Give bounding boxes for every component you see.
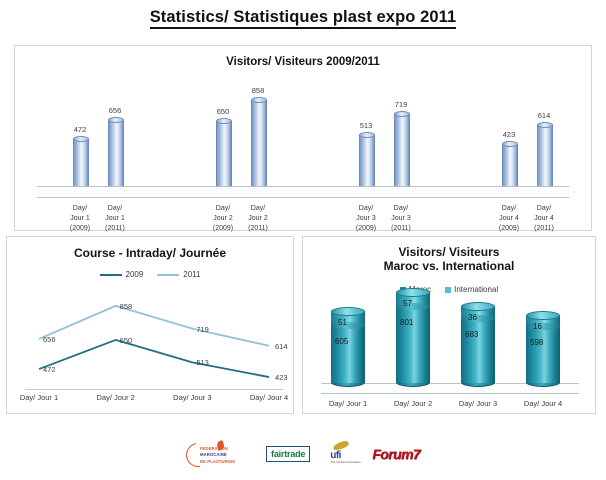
- bar-value-label: 650: [217, 107, 230, 116]
- segment-maroc: [526, 326, 560, 383]
- segment-divider: [461, 315, 495, 322]
- line-point-label: 656: [43, 335, 56, 344]
- cylinder-top-cap: [526, 311, 560, 320]
- column-bar: [73, 139, 89, 186]
- segment-maroc: [461, 318, 495, 383]
- segment-value-maroc: 605: [335, 337, 348, 346]
- line-point-label: 858: [120, 302, 133, 311]
- segment-divider: [331, 322, 365, 329]
- sponsor-logo-strip: FEDERATION MAROCAINE DE PLASTURGIE fairt…: [0, 432, 606, 476]
- bar-value-label: 656: [109, 106, 122, 115]
- chart-plot-area-course-intraday: 472650513423656858719614Day/ Jour 1Day/ …: [7, 237, 293, 413]
- line-series-2009: [39, 340, 269, 377]
- cylinder-category-label: Day/ Jour 2: [394, 399, 432, 410]
- cylinder-top-cap: [331, 307, 365, 316]
- bar-category-label: Day/Jour 2(2009): [213, 204, 233, 234]
- segment-maroc: [331, 325, 365, 383]
- segment-value-maroc: 598: [530, 338, 543, 347]
- segment-divider: [396, 303, 430, 310]
- forum7-label: Forum7: [372, 446, 420, 462]
- bar-category-label: Day/Jour 4(2011): [534, 204, 554, 234]
- logo-forum7: Forum7: [372, 446, 420, 462]
- chart-plot-area-maroc-vs-international: 51605Day/ Jour 157801Day/ Jour 236683Day…: [303, 237, 595, 413]
- logo-fairtrade: fairtrade: [266, 446, 310, 462]
- bar-category-label: Day/Jour 2(2011): [248, 204, 268, 234]
- bar-value-label: 513: [360, 121, 373, 130]
- fairtrade-label: fairtrade: [266, 446, 310, 462]
- line-category-label: Day/ Jour 3: [173, 393, 211, 404]
- fmp-line3: DE PLASTURGIE: [200, 459, 235, 465]
- line-point-label: 513: [196, 358, 209, 367]
- segment-value-maroc: 801: [400, 318, 413, 327]
- page-title: Statistics/ Statistiques plast expo 2011: [0, 8, 606, 27]
- chart-floor-plane: [37, 186, 569, 198]
- bar-value-label: 423: [503, 130, 516, 139]
- line-point-label: 719: [196, 325, 209, 334]
- segment-value-international: 36: [468, 313, 477, 322]
- segment-value-international: 16: [533, 322, 542, 331]
- bar-category-label: Day/Jour 3(2009): [356, 204, 376, 234]
- chart-plot-area-visitors: 472Day/Jour 1(2009)656Day/Jour 1(2011)65…: [15, 46, 591, 230]
- stacked-cylinder: [331, 311, 365, 383]
- bar-category-label: Day/Jour 4(2009): [499, 204, 519, 234]
- chart-panel-course-intraday: Course - Intraday/ Journée 20092011 4726…: [6, 236, 294, 414]
- logo-federation-marocaine-de-plasturgie: FEDERATION MAROCAINE DE PLASTURGIE: [186, 441, 248, 467]
- line-point-label: 472: [43, 365, 56, 374]
- bar-value-label: 472: [74, 125, 87, 134]
- chart-panel-visitors-2009-2011: Visitors/ Visiteurs 2009/2011 472Day/Jou…: [14, 45, 592, 231]
- line-category-label: Day/ Jour 2: [96, 393, 134, 404]
- cylinder-category-label: Day/ Jour 1: [329, 399, 367, 410]
- cylinder-top-cap: [461, 302, 495, 311]
- segment-value-international: 51: [338, 318, 347, 327]
- page-title-text: Statistics/ Statistiques plast expo 2011: [150, 8, 457, 29]
- bar-category-label: Day/Jour 3(2011): [391, 204, 411, 234]
- cylinder-category-label: Day/ Jour 3: [459, 399, 497, 410]
- column-bar: [502, 144, 518, 186]
- segment-divider: [526, 323, 560, 330]
- column-bar: [108, 120, 124, 186]
- line-category-label: Day/ Jour 4: [250, 393, 288, 404]
- segment-value-maroc: 683: [465, 330, 478, 339]
- bar-category-label: Day/Jour 1(2009): [70, 204, 90, 234]
- column-bar: [216, 121, 232, 186]
- column-bar: [359, 135, 375, 186]
- bar-value-label: 614: [538, 111, 551, 120]
- bar-value-label: 858: [252, 86, 265, 95]
- cylinder-category-label: Day/ Jour 4: [524, 399, 562, 410]
- column-bar: [394, 114, 410, 186]
- ufi-sublabel: The Global Association: [330, 460, 361, 464]
- line-point-label: 614: [275, 342, 288, 351]
- x-axis-line: [25, 389, 283, 390]
- column-bar: [251, 100, 267, 186]
- bar-category-label: Day/Jour 1(2011): [105, 204, 125, 234]
- segment-value-international: 57: [403, 299, 412, 308]
- cylinder-top-cap: [396, 288, 430, 297]
- line-category-label: Day/ Jour 1: [20, 393, 58, 404]
- line-series-2011: [39, 306, 269, 346]
- line-point-label: 650: [120, 336, 133, 345]
- line-point-label: 423: [275, 373, 288, 382]
- column-bar: [537, 125, 553, 186]
- stacked-cylinder: [526, 315, 560, 383]
- stacked-cylinder: [461, 306, 495, 383]
- logo-ufi: ufi The Global Association: [328, 441, 354, 467]
- chart-panel-maroc-vs-international: Visitors/ Visiteurs Maroc vs. Internatio…: [302, 236, 596, 414]
- stacked-cylinder: [396, 292, 430, 383]
- bar-value-label: 719: [395, 100, 408, 109]
